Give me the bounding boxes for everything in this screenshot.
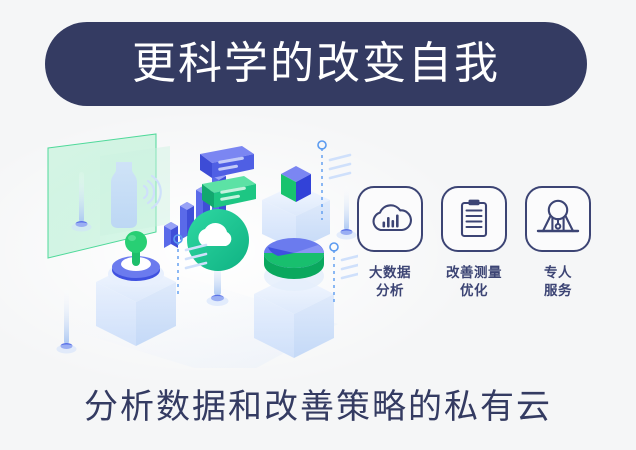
feature-label-line1: 大数据 [369, 264, 411, 282]
tag-card-blue [200, 146, 254, 178]
feature-label-big-data: 大数据 分析 [369, 264, 411, 300]
feature-item-big-data[interactable]: 大数据 分析 [352, 186, 428, 300]
pie-chart [264, 238, 324, 291]
tagline: 分析数据和改善策略的私有云 [0, 385, 636, 429]
feature-label-measurement: 改善测量 优化 [446, 264, 502, 300]
cloud-bar-chart-icon [357, 186, 423, 252]
header-pill: 更科学的改变自我 [45, 22, 587, 106]
feature-label-line1: 专人 [544, 264, 572, 282]
feature-label-line2: 分析 [369, 282, 411, 300]
speed-lines-back [330, 155, 350, 178]
feature-label-line1: 改善测量 [446, 264, 502, 282]
tag-card-green [202, 176, 256, 208]
feature-item-measurement[interactable]: 改善测量 优化 [436, 186, 512, 300]
illustration [38, 128, 358, 368]
support-agent-icon [525, 186, 591, 252]
feature-label-line2: 优化 [446, 282, 502, 300]
feature-label-service: 专人 服务 [544, 264, 572, 300]
feature-item-service[interactable]: 专人 服务 [520, 186, 596, 300]
clipboard-icon [441, 186, 507, 252]
poster-canvas: 更科学的改变自我 [0, 0, 636, 450]
feature-label-line2: 服务 [544, 282, 572, 300]
feature-list: 大数据 分析 改善测量 优化 [352, 186, 598, 300]
glass-panel [48, 134, 170, 258]
page-title: 更科学的改变自我 [132, 42, 500, 86]
